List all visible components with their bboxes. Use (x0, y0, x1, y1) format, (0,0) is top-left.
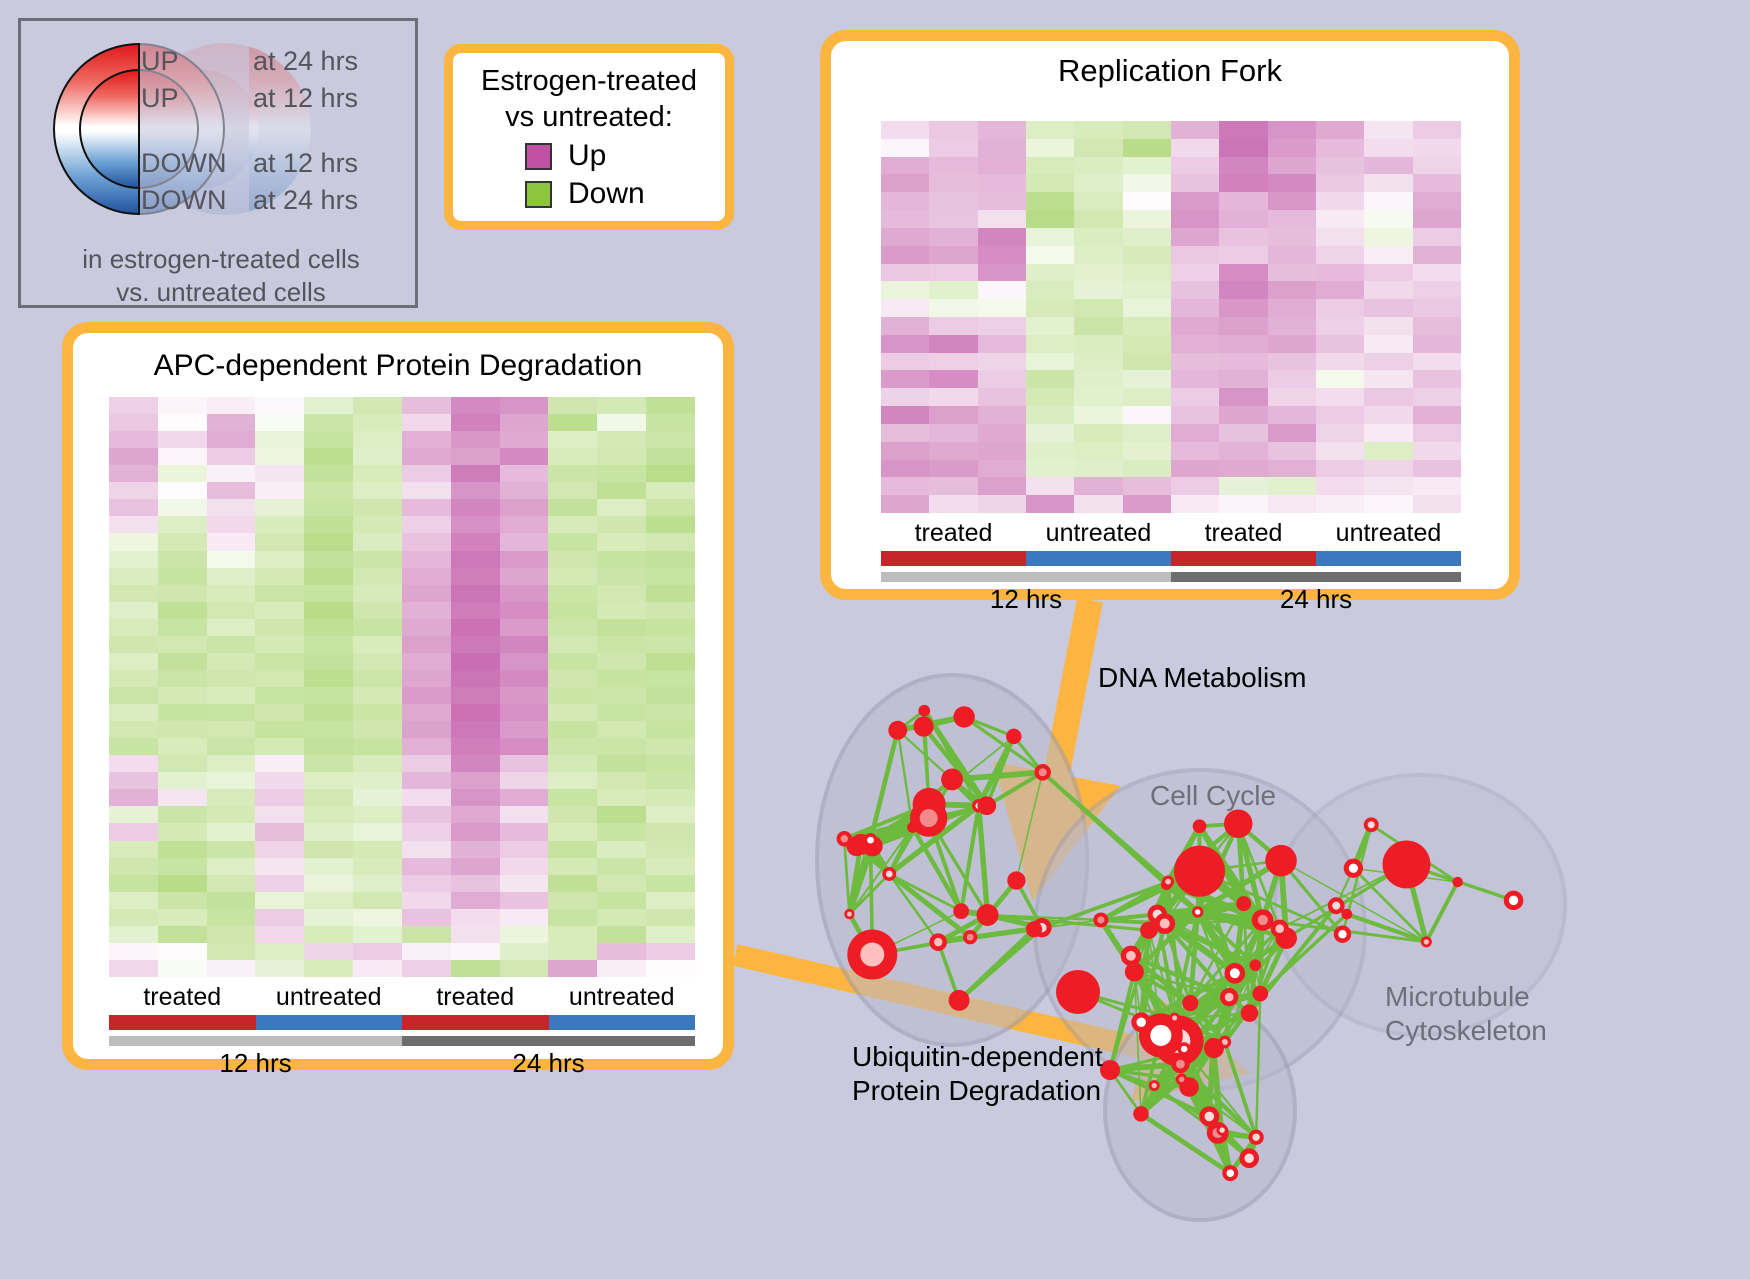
heatmap-cell (978, 317, 1026, 335)
heatmap-cell (109, 755, 158, 772)
network-node[interactable] (1383, 840, 1431, 888)
heatmap-cell (548, 772, 597, 789)
heatmap-cell (597, 772, 646, 789)
heatmap-cell (597, 960, 646, 977)
node-inner (1181, 1046, 1187, 1052)
heatmap-cell (1123, 121, 1171, 139)
network-node[interactable] (953, 706, 974, 727)
heatmap-cell (881, 192, 929, 210)
heatmap-cell (1171, 174, 1219, 192)
heatmap-cell (500, 602, 549, 619)
heatmap-cell (548, 687, 597, 704)
node-inner (1176, 1060, 1185, 1069)
heatmap-cell (548, 414, 597, 431)
heatmap-cell (158, 721, 207, 738)
heatmap-cell (548, 465, 597, 482)
heatmap-cell (929, 121, 977, 139)
heatmap-cell (158, 892, 207, 909)
node-outer (1007, 871, 1025, 889)
network-node[interactable] (1171, 1055, 1189, 1073)
network-node[interactable] (1162, 876, 1174, 888)
timepoint-labels: 12 hrs 24 hrs (109, 1048, 695, 1079)
heatmap-cell (1171, 246, 1219, 264)
network-node[interactable] (1328, 897, 1345, 914)
heatmap-cell (1316, 299, 1364, 317)
heatmap-cell (304, 653, 353, 670)
heatmap-cell (451, 448, 500, 465)
heatmap-cell (500, 585, 549, 602)
network-node[interactable] (1224, 809, 1253, 838)
heatmap-cell (353, 653, 402, 670)
network-node[interactable] (882, 867, 896, 881)
heatmap-cell (451, 636, 500, 653)
heatmap-cell (1123, 495, 1171, 513)
heatmap-cell (207, 738, 256, 755)
heatmap-cell (304, 414, 353, 431)
heatmap-cell (158, 841, 207, 858)
heatmap-cell (1219, 228, 1267, 246)
heatmap-cell (597, 551, 646, 568)
network-node[interactable] (1334, 925, 1351, 942)
heatmap-cell (1316, 246, 1364, 264)
heatmap-cell (207, 516, 256, 533)
network-node[interactable] (949, 990, 970, 1011)
heatmap-cell (402, 738, 451, 755)
node-inner (1349, 864, 1358, 873)
heatmap-cell (255, 448, 304, 465)
estrogen-title-line-1: Estrogen-treated (453, 63, 725, 99)
heatmap-cell (500, 687, 549, 704)
heatmap-cell (646, 482, 695, 499)
heatmap-cell (1364, 174, 1412, 192)
network-node[interactable] (907, 822, 918, 833)
heatmap-cell (1123, 157, 1171, 175)
heatmap-cell (304, 585, 353, 602)
legend-key: UP (141, 80, 253, 117)
node-inner (967, 934, 974, 941)
heatmap-cell (451, 687, 500, 704)
heatmap-cell (597, 636, 646, 653)
network-node[interactable] (913, 716, 933, 736)
heatmap-cell (929, 335, 977, 353)
heatmap-cell (1316, 460, 1364, 478)
cluster-label-microtubule-cytoskeleton: Microtubule Cytoskeleton (1385, 980, 1547, 1048)
heatmap-cell (304, 499, 353, 516)
network-node[interactable] (1056, 970, 1100, 1014)
heatmap-cell (1171, 424, 1219, 442)
heatmap-cell (1219, 424, 1267, 442)
network-node[interactable] (941, 768, 963, 790)
wheel-midline (138, 43, 140, 215)
heatmap-cell (597, 755, 646, 772)
heatmap-cell (402, 499, 451, 516)
network-node[interactable] (1224, 963, 1245, 984)
network-node[interactable] (1133, 1106, 1149, 1122)
heatmap-cell (1268, 228, 1316, 246)
heatmap-cell (646, 551, 695, 568)
node-inner (1160, 919, 1170, 929)
heatmap-cell (548, 670, 597, 687)
network-node[interactable] (1364, 817, 1379, 832)
heatmap-cell (1413, 370, 1461, 388)
network-node[interactable] (1199, 1106, 1219, 1126)
network-node[interactable] (1125, 962, 1144, 981)
heatmap-cell (255, 892, 304, 909)
heatmap-cell (597, 448, 646, 465)
network-node[interactable] (1169, 1013, 1180, 1024)
network-node[interactable] (977, 796, 996, 815)
heatmap-cell (1123, 370, 1171, 388)
heatmap-cell (1026, 121, 1074, 139)
condition-label: untreated (549, 983, 696, 1012)
heatmap-cell (158, 482, 207, 499)
heatmap-cell (1316, 317, 1364, 335)
node-inner (847, 912, 852, 917)
network-node[interactable] (1271, 920, 1289, 938)
heatmap-cell (597, 789, 646, 806)
network-node[interactable] (1239, 1148, 1259, 1168)
heatmap-cell (1219, 192, 1267, 210)
heatmap-cell (353, 738, 402, 755)
network-node[interactable] (1344, 859, 1363, 878)
heatmap-cell (646, 585, 695, 602)
heatmap-cell (1364, 228, 1412, 246)
heatmap-cell (304, 858, 353, 875)
heatmap-cell (1268, 406, 1316, 424)
heatmap-cell (1413, 424, 1461, 442)
heatmap-cell (451, 704, 500, 721)
heatmap-cell (109, 772, 158, 789)
colorwheel-footer: in estrogen-treated cells vs. untreated … (21, 243, 421, 309)
heatmap-cell (1123, 477, 1171, 495)
heatmap-cell (109, 738, 158, 755)
node-inner (1368, 821, 1375, 828)
heatmap-cell (255, 943, 304, 960)
heatmap-cell (158, 431, 207, 448)
heatmap-cell (646, 841, 695, 858)
node-inner (1172, 1015, 1177, 1020)
heatmap-cell (1268, 317, 1316, 335)
heatmap-cell (597, 909, 646, 926)
heatmap-cell (207, 892, 256, 909)
heatmap-cell (597, 499, 646, 516)
heatmap-cell (548, 619, 597, 636)
network-node[interactable] (1252, 909, 1273, 930)
heatmap-cell (978, 388, 1026, 406)
network-node[interactable] (1249, 1130, 1264, 1145)
network-node[interactable] (1026, 921, 1042, 937)
heatmap-cell (255, 653, 304, 670)
heatmap-cell (646, 909, 695, 926)
heatmap-cell (548, 892, 597, 909)
network-node[interactable] (1121, 946, 1141, 966)
heatmap-cell (597, 806, 646, 823)
heatmap-cell (500, 533, 549, 550)
network-node[interactable] (1182, 995, 1198, 1011)
heatmap-cell (304, 636, 353, 653)
node-outer (1224, 809, 1253, 838)
heatmap-cell (500, 568, 549, 585)
heatmap-cell (1026, 299, 1074, 317)
condition-label: untreated (1316, 519, 1461, 548)
heatmap-cell (109, 619, 158, 636)
heatmap-cell (158, 397, 207, 414)
ubiquitin-line-2: Protein Degradation (852, 1074, 1103, 1108)
heatmap-cell (1171, 495, 1219, 513)
heatmap-cell (1026, 139, 1074, 157)
heatmap-cell (881, 139, 929, 157)
network-node[interactable] (1007, 871, 1025, 889)
heatmap-cell (646, 619, 695, 636)
heatmap-cell (1171, 281, 1219, 299)
heatmap-cell (1123, 246, 1171, 264)
heatmap-cell (881, 424, 929, 442)
heatmap-cell (402, 568, 451, 585)
heatmap-cell (929, 442, 977, 460)
heatmap-cell (255, 789, 304, 806)
legend-key: DOWN (141, 145, 253, 182)
heatmap-cell (304, 602, 353, 619)
heatmap-cell (500, 892, 549, 909)
network-node[interactable] (1252, 986, 1268, 1002)
heatmap-cell (881, 121, 929, 139)
heatmap-cell (255, 721, 304, 738)
network-node[interactable] (1177, 1042, 1190, 1055)
heatmap-cell (646, 960, 695, 977)
heatmap-cell (402, 806, 451, 823)
heatmap-cell (929, 370, 977, 388)
heatmap-cell (158, 875, 207, 892)
heatmap-cell (158, 653, 207, 670)
network-node[interactable] (1265, 845, 1297, 877)
legend-row-down-12: DOWN at 12 hrs (141, 145, 409, 182)
node-inner (1424, 939, 1429, 944)
network-node[interactable] (1206, 1038, 1221, 1053)
heatmap-cell (207, 499, 256, 516)
heatmap-cell (353, 516, 402, 533)
heatmap-cell (304, 960, 353, 977)
heatmap-cell (1219, 281, 1267, 299)
network-node[interactable] (918, 705, 930, 717)
network-node[interactable] (1093, 912, 1108, 927)
network-node[interactable] (929, 933, 947, 951)
network-node[interactable] (963, 930, 977, 944)
network-node[interactable] (1421, 936, 1432, 947)
condition-bar-untreated-24 (1316, 551, 1461, 566)
network-node[interactable] (1100, 1060, 1120, 1080)
condition-labels: treated untreated treated untreated (881, 519, 1461, 548)
heatmap-cell (255, 704, 304, 721)
heatmap-cell (978, 210, 1026, 228)
heatmap-cell (109, 721, 158, 738)
heatmap-cell (1074, 424, 1122, 442)
network-node[interactable] (1131, 1012, 1151, 1032)
network-node[interactable] (1193, 819, 1207, 833)
heatmap-cell (929, 495, 977, 513)
heatmap-cell (646, 755, 695, 772)
heatmap-cell (1364, 442, 1412, 460)
heatmap-cell (1171, 210, 1219, 228)
network-node[interactable] (847, 930, 897, 980)
network-node[interactable] (1140, 922, 1157, 939)
heatmap-cell (548, 704, 597, 721)
heatmap-cell (1364, 406, 1412, 424)
heatmap-cell (451, 875, 500, 892)
heatmap-cell (929, 228, 977, 246)
heatmap-cell (207, 687, 256, 704)
heatmap-cell (1123, 388, 1171, 406)
node-inner (1332, 902, 1340, 910)
heatmap-cell (353, 670, 402, 687)
heatmap-cell (207, 721, 256, 738)
heatmap-cell (646, 858, 695, 875)
heatmap-cell (597, 687, 646, 704)
legend-item-label: Down (568, 177, 645, 211)
heatmap-cell (353, 943, 402, 960)
node-inner (1455, 880, 1460, 885)
heatmap-cell (207, 806, 256, 823)
network-node[interactable] (1149, 1080, 1160, 1091)
legend-item-label: Up (568, 139, 606, 173)
heatmap-cell (158, 858, 207, 875)
heatmap-cell (451, 806, 500, 823)
heatmap-cell (1123, 317, 1171, 335)
heatmap-cell (646, 943, 695, 960)
ubiquitin-line-1: Ubiquitin-dependent (852, 1040, 1103, 1074)
heatmap-cell (646, 653, 695, 670)
network-node[interactable] (1222, 1165, 1238, 1181)
heatmap-cell (158, 823, 207, 840)
colorwheel-legend: UP at 24 hrs UP at 12 hrs DOWN at 12 hrs… (18, 18, 418, 308)
heatmap-cell (451, 533, 500, 550)
heatmap-cell (1364, 264, 1412, 282)
heatmap-cell (646, 499, 695, 516)
heatmap-cell (304, 738, 353, 755)
heatmap-cell (1413, 335, 1461, 353)
cluster-label-dna-metabolism: DNA Metabolism (1098, 662, 1307, 694)
network-node[interactable] (1217, 1125, 1228, 1136)
heatmap-cell (1026, 317, 1074, 335)
heatmap-cell (500, 619, 549, 636)
timepoint-color-bars (109, 1036, 695, 1046)
heatmap-cell (207, 653, 256, 670)
heatmap-cell (158, 448, 207, 465)
heatmap-cell (451, 909, 500, 926)
heatmap-cell (1364, 388, 1412, 406)
heatmap-cell (929, 406, 977, 424)
heatmap-cell (109, 875, 158, 892)
heatmap-cell (500, 704, 549, 721)
network-node[interactable] (1006, 729, 1021, 744)
heatmap-cell (255, 585, 304, 602)
network-node[interactable] (1034, 764, 1051, 781)
condition-bar-untreated-12 (256, 1015, 403, 1030)
node-inner (1097, 916, 1104, 923)
heatmap-cell (109, 926, 158, 943)
condition-bar-treated-24 (1171, 551, 1316, 566)
network-node[interactable] (888, 721, 907, 740)
heatmap-cell (451, 499, 500, 516)
heatmap-cell (881, 460, 929, 478)
heatmap-cell (451, 960, 500, 977)
network-node[interactable] (1241, 1004, 1259, 1022)
heatmap-cell (548, 823, 597, 840)
heatmap-cell (500, 755, 549, 772)
network-node[interactable] (1191, 858, 1213, 880)
heatmap-cell (158, 585, 207, 602)
heatmap-cell (353, 585, 402, 602)
heatmap-cell (597, 431, 646, 448)
network-node[interactable] (1236, 896, 1251, 911)
network-node[interactable] (1192, 906, 1203, 917)
heatmap-cell (978, 495, 1026, 513)
heatmap-cell (207, 875, 256, 892)
heatmap-cell (451, 772, 500, 789)
heatmap-cell (207, 704, 256, 721)
heatmap-cell (1268, 246, 1316, 264)
heatmap-cell (1123, 264, 1171, 282)
node-inner (1137, 1110, 1144, 1117)
node-inner (920, 809, 938, 827)
condition-label: treated (881, 519, 1026, 548)
heatmap-cell (1026, 406, 1074, 424)
network-node[interactable] (953, 903, 969, 919)
heatmap-cell (500, 397, 549, 414)
heatmap-cell (158, 772, 207, 789)
heatmap-cell (1316, 192, 1364, 210)
heatmap-cell (978, 246, 1026, 264)
heatmap-cell (881, 370, 929, 388)
heatmap-cell (646, 636, 695, 653)
heatmap-cell (1316, 370, 1364, 388)
heatmap-cell (500, 823, 549, 840)
network-node[interactable] (844, 909, 854, 919)
heatmap-cell (1219, 442, 1267, 460)
heatmap-cell (597, 619, 646, 636)
heatmap-cell (402, 892, 451, 909)
heatmap-cell (978, 299, 1026, 317)
legend-spacer (141, 117, 409, 145)
heatmap-cell (207, 397, 256, 414)
heatmap-cell (500, 636, 549, 653)
heatmap-cell (353, 772, 402, 789)
network-node[interactable] (1504, 891, 1524, 911)
heatmap-cell (304, 516, 353, 533)
network-node[interactable] (1250, 959, 1262, 971)
node-inner (1338, 930, 1346, 938)
heatmap-cell (207, 943, 256, 960)
heatmap-cell (500, 465, 549, 482)
node-inner (1273, 853, 1288, 868)
network-node[interactable] (863, 833, 877, 847)
node-outer (907, 822, 918, 833)
heatmap-cell (1026, 228, 1074, 246)
network-node[interactable] (1452, 877, 1463, 888)
heatmap-cell (1026, 174, 1074, 192)
heatmap-cell (207, 585, 256, 602)
network-node[interactable] (977, 904, 999, 926)
heatmap-cell (548, 516, 597, 533)
heatmap-cell (1364, 139, 1412, 157)
heatmap-cell (1074, 299, 1122, 317)
heatmap-cell (978, 192, 1026, 210)
heatmap-cell (929, 174, 977, 192)
heatmap-cell (978, 228, 1026, 246)
node-inner (1225, 993, 1234, 1002)
network-node[interactable] (1220, 988, 1238, 1006)
network-node[interactable] (1176, 1073, 1188, 1085)
heatmap-cell (548, 568, 597, 585)
